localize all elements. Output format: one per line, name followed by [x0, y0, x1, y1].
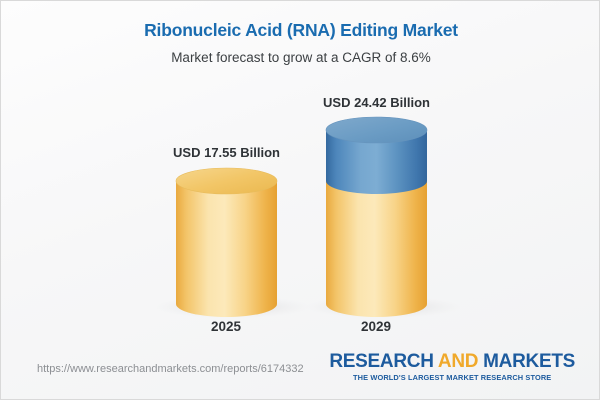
- logo-word-and: AND: [438, 351, 478, 372]
- logo-wordmark: RESEARCH AND MARKETS: [329, 351, 575, 372]
- category-label-2025: 2025: [156, 319, 296, 334]
- data-label-2025: USD 17.55 Billion: [126, 145, 327, 160]
- infographic-card: Ribonucleic Acid (RNA) Editing Market Ma…: [0, 0, 600, 400]
- bar-top-cap-2025: [176, 168, 277, 194]
- report-url[interactable]: https://www.researchandmarkets.com/repor…: [37, 363, 304, 375]
- bar-cylinder-2025: [176, 168, 277, 317]
- bar-cylinder-2029: [326, 117, 427, 317]
- logo-word-markets: MARKETS: [483, 351, 575, 372]
- research-and-markets-logo[interactable]: RESEARCH AND MARKETS THE WORLD'S LARGEST…: [329, 351, 575, 382]
- bar-body-2029-base: [326, 181, 427, 317]
- category-label-2029: 2029: [306, 319, 446, 334]
- chart-footer: https://www.researchandmarkets.com/repor…: [1, 341, 599, 399]
- bar-top-cap-2029: [326, 117, 427, 143]
- bar-body-2025: [176, 181, 277, 317]
- logo-tagline: THE WORLD'S LARGEST MARKET RESEARCH STOR…: [329, 373, 575, 382]
- logo-word-research: RESEARCH: [329, 351, 433, 372]
- data-label-2029: USD 24.42 Billion: [276, 95, 477, 110]
